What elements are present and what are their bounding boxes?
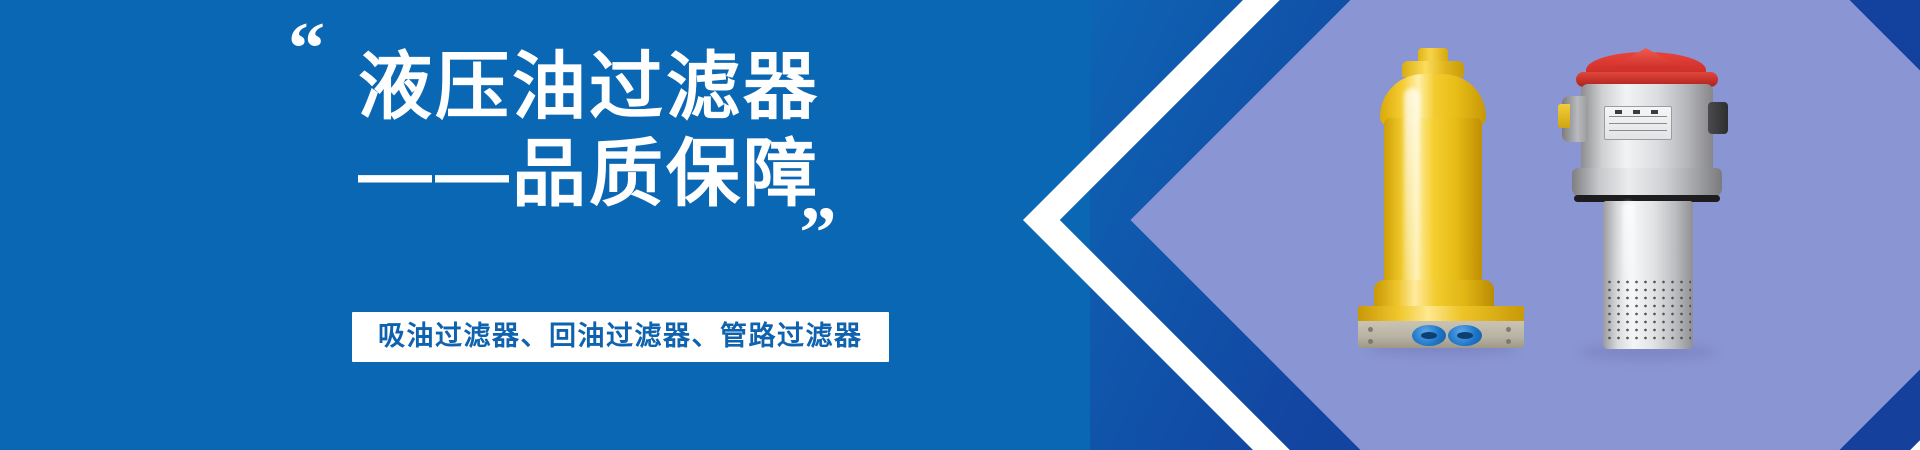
base-bolt-icon (1368, 339, 1373, 344)
filter-mounting-flange (1572, 168, 1722, 198)
yellow-filter-port-right (1448, 325, 1482, 346)
base-bolt-icon (1506, 339, 1511, 344)
promo-banner: “ 液压油过滤器 ——品质保障 „ 吸油过滤器、回油过滤器、管路过滤器 (0, 0, 1920, 450)
product-image-white-return-filter (1548, 52, 1748, 352)
headline-block: “ 液压油过滤器 ——品质保障 „ 吸油过滤器、回油过滤器、管路过滤器 (0, 0, 1000, 450)
subtitle-text: 吸油过滤器、回油过滤器、管路过滤器 (378, 323, 863, 350)
port-hole-icon (1421, 332, 1437, 339)
yellow-filter-port-left (1412, 325, 1446, 346)
base-bolt-icon (1368, 327, 1373, 332)
yellow-filter-highlight (1404, 88, 1420, 288)
filter-indicator-knob (1708, 102, 1728, 134)
subtitle-badge: 吸油过滤器、回油过滤器、管路过滤器 (352, 312, 889, 362)
port-hole-icon (1457, 332, 1473, 339)
nameplate-tick (1615, 110, 1622, 114)
product-nameplate (1604, 106, 1672, 140)
page-title: 液压油过滤器 ——品质保障 (0, 46, 820, 216)
nameplate-tick (1633, 110, 1640, 114)
filter-side-plug (1558, 104, 1570, 128)
yellow-filter-body (1384, 118, 1482, 293)
nameplate-line (1609, 130, 1667, 131)
base-bolt-icon (1506, 327, 1511, 332)
nameplate-line (1609, 123, 1667, 124)
nameplate-line (1609, 116, 1667, 117)
perforated-mesh (1605, 278, 1691, 340)
quote-close-icon: „ (800, 158, 835, 232)
headline-line-2: ——品质保障 (0, 133, 820, 216)
headline-line-1: 液压油过滤器 (358, 45, 820, 128)
nameplate-tick (1651, 110, 1658, 114)
product-image-yellow-suction-filter (1356, 48, 1526, 348)
